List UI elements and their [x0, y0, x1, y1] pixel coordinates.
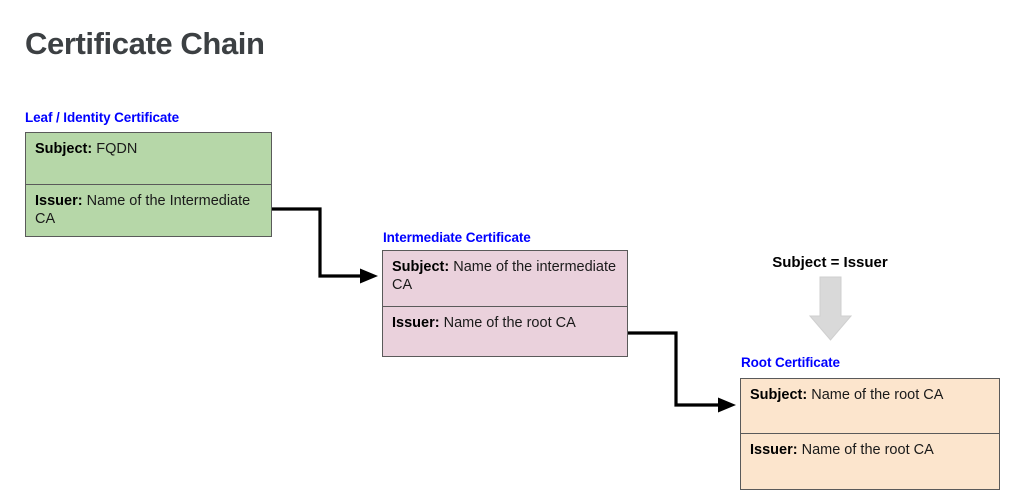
leaf-issuer-row: Issuer: Name of the Intermediate CA [26, 184, 271, 236]
intermediate-issuer-field-name: Issuer: [392, 315, 444, 331]
root-issuer-field-name: Issuer: [750, 442, 802, 458]
leaf-to-intermediate-connector-icon [272, 209, 378, 284]
subject-equals-issuer-annotation: Subject = Issuer [740, 254, 920, 271]
leaf-subject-value: FQDN [96, 141, 137, 157]
certificate-chain-diagram: Certificate Chain Leaf / Identity Certif… [0, 0, 1009, 498]
leaf-issuer-field-name: Issuer: [35, 193, 87, 209]
root-certificate-label: Root Certificate [741, 355, 840, 370]
root-subject-field-name: Subject: [750, 387, 811, 403]
intermediate-issuer-value: Name of the root CA [444, 315, 576, 331]
arrow-down-block-icon [810, 277, 851, 340]
intermediate-subject-field-name: Subject: [392, 259, 453, 275]
root-subject-row: Subject: Name of the root CA [741, 379, 999, 433]
leaf-subject-row: Subject: FQDN [26, 133, 271, 184]
intermediate-to-root-connector-icon [628, 333, 736, 413]
intermediate-issuer-row: Issuer: Name of the root CA [383, 306, 627, 356]
intermediate-certificate-label: Intermediate Certificate [383, 230, 531, 245]
leaf-certificate-label: Leaf / Identity Certificate [25, 110, 179, 125]
leaf-subject-field-name: Subject: [35, 141, 96, 157]
root-issuer-row: Issuer: Name of the root CA [741, 433, 999, 489]
root-certificate-box: Subject: Name of the root CA Issuer: Nam… [740, 378, 1000, 490]
intermediate-subject-row: Subject: Name of the intermediate CA [383, 251, 627, 306]
intermediate-certificate-box: Subject: Name of the intermediate CA Iss… [382, 250, 628, 357]
root-issuer-value: Name of the root CA [802, 442, 934, 458]
leaf-certificate-box: Subject: FQDN Issuer: Name of the Interm… [25, 132, 272, 237]
root-subject-value: Name of the root CA [811, 387, 943, 403]
page-title: Certificate Chain [25, 26, 265, 62]
